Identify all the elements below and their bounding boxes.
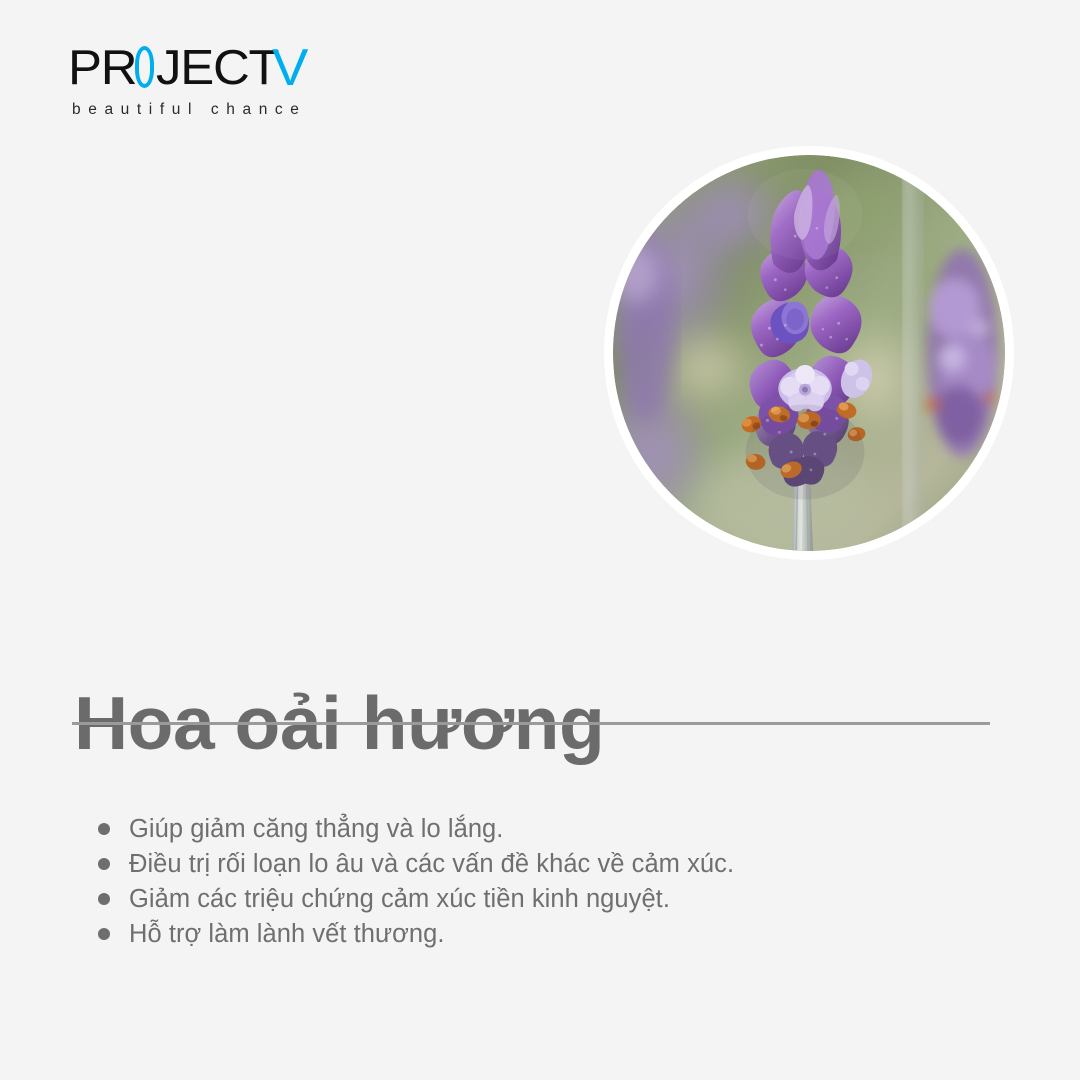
benefits-list: Giúp giảm căng thẳng và lo lắng. Điều tr… xyxy=(98,812,734,952)
bullet-dot-icon xyxy=(98,928,110,940)
title-divider xyxy=(72,722,990,725)
lavender-photo-svg xyxy=(613,155,1005,551)
list-item: Hỗ trợ làm lành vết thương. xyxy=(98,917,734,952)
lavender-photo-circle xyxy=(604,146,1014,560)
list-item: Giúp giảm căng thẳng và lo lắng. xyxy=(98,812,734,847)
logo-tagline: beautiful chance xyxy=(72,101,488,119)
logo-wordmark: PRJECTV xyxy=(68,44,488,92)
list-item-label: Điều trị rối loạn lo âu và các vấn đề kh… xyxy=(129,847,734,882)
bullet-dot-icon xyxy=(98,893,110,905)
bullet-dot-icon xyxy=(98,858,110,870)
list-item-label: Giảm các triệu chứng cảm xúc tiền kinh n… xyxy=(129,882,670,917)
lavender-photo xyxy=(613,155,1005,551)
list-item: Giảm các triệu chứng cảm xúc tiền kinh n… xyxy=(98,882,734,917)
logo-word-prefix: PR xyxy=(68,44,136,92)
logo-v-letter: V xyxy=(272,44,307,92)
bullet-dot-icon xyxy=(98,823,110,835)
list-item-label: Giúp giảm căng thẳng và lo lắng. xyxy=(129,812,503,847)
logo-zero-icon xyxy=(135,46,154,88)
logo-word-suffix: JECT xyxy=(156,44,278,92)
list-item-label: Hỗ trợ làm lành vết thương. xyxy=(129,917,445,952)
poster-canvas: PRJECTV beautiful chance xyxy=(0,0,1080,1080)
project-v-logo[interactable]: PRJECTV beautiful chance xyxy=(68,44,488,134)
list-item: Điều trị rối loạn lo âu và các vấn đề kh… xyxy=(98,847,734,882)
